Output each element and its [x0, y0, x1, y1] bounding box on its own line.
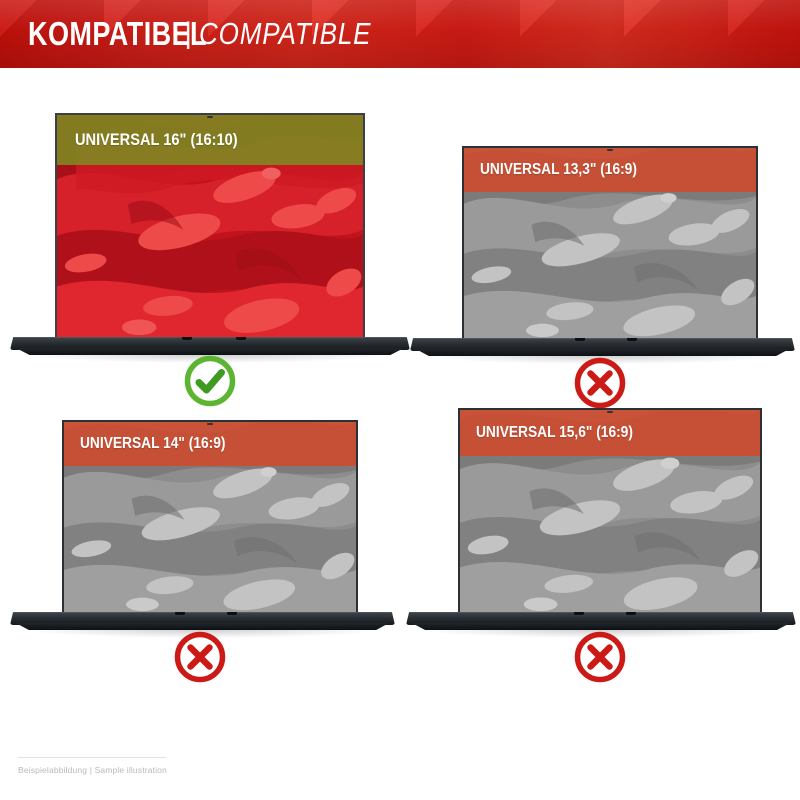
laptop-notch-right: [227, 612, 237, 615]
status-badge-not-compatible: [572, 629, 628, 685]
laptop-notch-left: [575, 338, 585, 341]
page-title: KOMPATIBEL | COMPATIBLE: [28, 0, 404, 68]
title-english: COMPATIBLE: [199, 16, 371, 52]
screen-label-band: UNIVERSAL 16" (16:10): [57, 115, 363, 165]
compatibility-grid: UNIVERSAL 16" (16:10): [0, 68, 800, 758]
screen-label-text: UNIVERSAL 16" (16:10): [75, 130, 238, 150]
laptop-illustration: UNIVERSAL 14" (16:9): [0, 368, 400, 713]
laptop-notch-right: [627, 338, 637, 341]
laptop-notch-left: [182, 337, 192, 340]
laptop-illustration: UNIVERSAL 16" (16:10): [0, 68, 400, 413]
compatibility-item[interactable]: UNIVERSAL 15,6" (16:9): [400, 368, 800, 713]
title-german: KOMPATIBEL: [28, 15, 207, 53]
webcam-icon: [607, 149, 613, 151]
compatibility-item[interactable]: UNIVERSAL 14" (16:9): [0, 368, 400, 713]
laptop-screen: UNIVERSAL 14" (16:9): [62, 420, 358, 616]
screen-label-text: UNIVERSAL 15,6" (16:9): [476, 424, 633, 442]
screen-label-band: UNIVERSAL 13,3" (16:9): [464, 148, 756, 192]
laptop-notch-right: [236, 337, 246, 340]
laptop-notch-right: [626, 612, 636, 615]
webcam-icon: [607, 411, 613, 413]
laptop-illustration: UNIVERSAL 13,3" (16:9): [400, 68, 800, 413]
compatibility-item[interactable]: UNIVERSAL 16" (16:10): [0, 68, 400, 413]
screen-label-text: UNIVERSAL 13,3" (16:9): [480, 161, 637, 179]
screen-label-band: UNIVERSAL 14" (16:9): [64, 422, 356, 466]
laptop-illustration: UNIVERSAL 15,6" (16:9): [400, 368, 800, 713]
laptop-screen: UNIVERSAL 16" (16:10): [55, 113, 365, 341]
status-badge-not-compatible: [172, 629, 228, 685]
page-header: KOMPATIBEL | COMPATIBLE: [0, 0, 800, 68]
screen-label-band: UNIVERSAL 15,6" (16:9): [460, 410, 760, 456]
webcam-icon: [207, 423, 213, 425]
x-circle-icon: [172, 629, 228, 685]
laptop-notch-left: [175, 612, 185, 615]
title-separator: |: [184, 17, 192, 51]
screen-label-text: UNIVERSAL 14" (16:9): [80, 435, 225, 453]
laptop-notch-left: [574, 612, 584, 615]
laptop-screen: UNIVERSAL 15,6" (16:9): [458, 408, 762, 616]
compatibility-item[interactable]: UNIVERSAL 13,3" (16:9): [400, 68, 800, 413]
webcam-icon: [207, 116, 213, 118]
footer-note: Beispielabbildung | Sample illustration: [18, 765, 167, 775]
laptop-screen: UNIVERSAL 13,3" (16:9): [462, 146, 758, 342]
x-circle-icon: [572, 629, 628, 685]
footer-divider: [18, 757, 166, 758]
